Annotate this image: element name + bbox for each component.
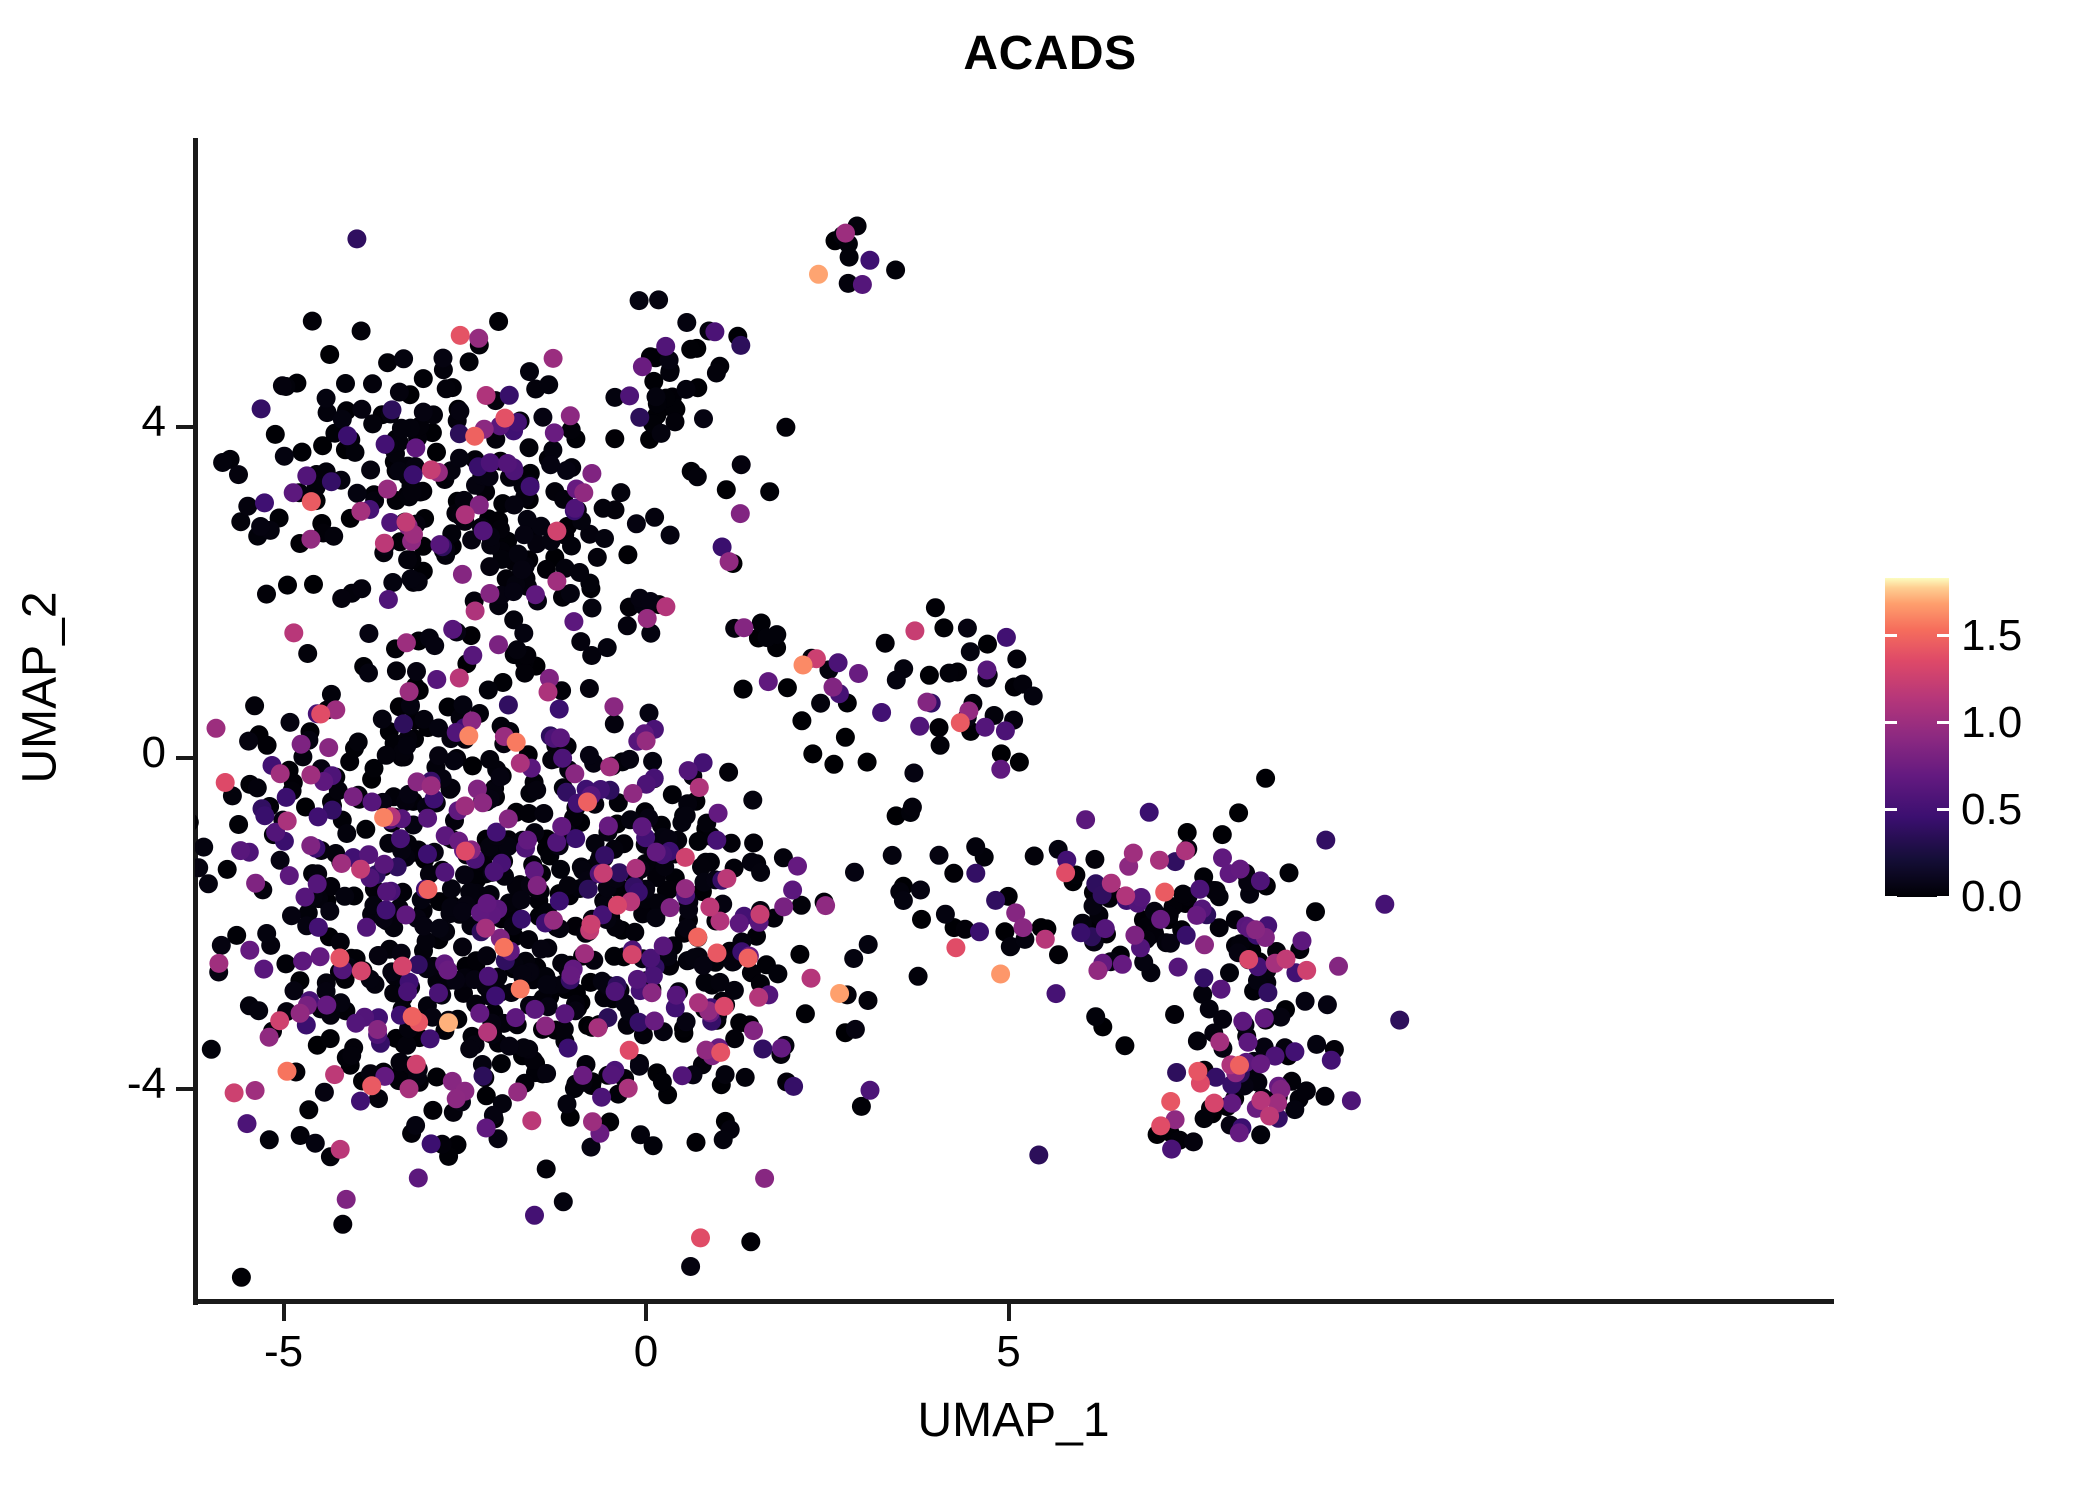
- x-tick-label: -5: [214, 1327, 354, 1377]
- y-axis-title: UMAP_2: [13, 388, 68, 988]
- colorbar-tick-mark: [1885, 896, 1897, 899]
- scatter-points: [195, 140, 1832, 1301]
- x-tick-mark: [644, 1304, 648, 1321]
- plot-panel: [195, 140, 1832, 1301]
- colorbar-tick-mark: [1937, 808, 1949, 811]
- colorbar-legend: 1.51.00.50.0: [1885, 578, 1949, 897]
- colorbar-tick-mark: [1885, 634, 1897, 637]
- y-tick-mark: [176, 425, 193, 429]
- x-axis-title: UMAP_1: [195, 1393, 1832, 1448]
- y-tick-label: -4: [36, 1059, 166, 1109]
- colorbar-tick-label: 0.0: [1961, 872, 2022, 922]
- colorbar-tick-mark: [1885, 808, 1897, 811]
- x-tick-label: 5: [939, 1327, 1079, 1377]
- page-title: ACADS: [0, 26, 2100, 81]
- x-tick-mark: [1007, 1304, 1011, 1321]
- y-tick-mark: [176, 1087, 193, 1091]
- colorbar-tick-mark: [1937, 896, 1949, 899]
- colorbar-tick-mark: [1937, 634, 1949, 637]
- colorbar-tick-label: 1.0: [1961, 698, 2022, 748]
- colorbar-tick-mark: [1937, 721, 1949, 724]
- colorbar-tick-label: 1.5: [1961, 611, 2022, 661]
- colorbar-tick-label: 0.5: [1961, 785, 2022, 835]
- x-tick-label: 0: [576, 1327, 716, 1377]
- colorbar-tick-mark: [1885, 721, 1897, 724]
- chart-root: ACADS -505 40-4 UMAP_1 UMAP_2 1.51.00.50…: [0, 0, 2100, 1500]
- x-tick-mark: [282, 1304, 286, 1321]
- y-tick-mark: [176, 756, 193, 760]
- colorbar-gradient: [1885, 578, 1949, 897]
